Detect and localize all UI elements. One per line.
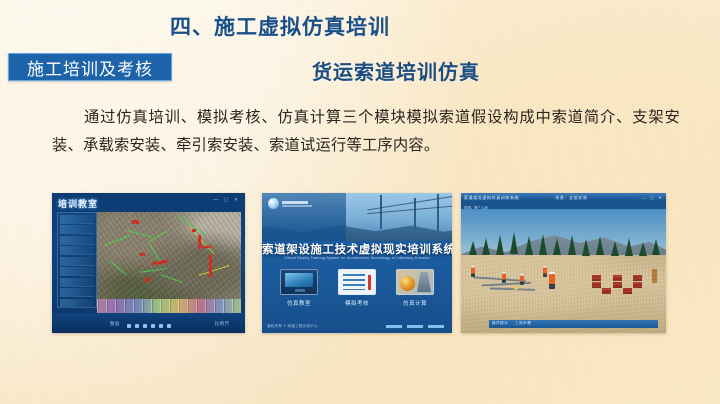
scene-name-label: 场景：支架安装 (555, 195, 587, 201)
scene-worker-avatar (520, 274, 524, 285)
scene-tree (596, 236, 604, 255)
sidebar-item[interactable] (60, 278, 94, 287)
window-controls[interactable]: — ▢ ✕ (213, 197, 240, 203)
scene-pipe (481, 282, 530, 287)
module-card-mock-exam[interactable]: 模拟考核 (338, 269, 376, 307)
scene-footer-button-steps[interactable]: 工序步骤 (515, 321, 531, 326)
scene-crate (613, 275, 622, 281)
map-legend-filmstrip[interactable] (97, 299, 241, 313)
scene-pipe (490, 287, 535, 291)
sidebar-item[interactable] (60, 246, 94, 255)
scene-worker-avatar-main (549, 272, 555, 289)
nav-item[interactable] (386, 325, 402, 328)
window-controls[interactable]: — ▢ ✕ (643, 195, 663, 200)
scene-tree (625, 238, 633, 256)
scene-title-bar: 索道架设虚拟仿真训练系统 场景：支架安装 — ▢ ✕ (461, 193, 666, 204)
scene-tree (611, 241, 619, 256)
sidebar-item[interactable] (60, 267, 94, 276)
layer-label: 图层 (110, 321, 120, 327)
scene-footer-bar[interactable]: 操作提示 工序步骤 (489, 320, 658, 328)
scene-footer-button-hint[interactable]: 操作提示 (492, 321, 508, 326)
nav-item[interactable] (407, 325, 423, 328)
classroom-app-title: 培训教室 (58, 197, 98, 210)
scene-crate (623, 288, 632, 294)
module-card-label: 仿真教室 (280, 299, 318, 307)
module-card-simulation-calc[interactable]: 仿真计算 (396, 269, 434, 307)
scene-crate (592, 282, 601, 288)
vr-system-subtitle-en: Virtual Reality Training System for Cons… (274, 256, 440, 261)
figure-training-classroom[interactable]: 培训教室 — ▢ ✕ (52, 193, 245, 333)
classroom-app-window: 培训教室 — ▢ ✕ (52, 193, 245, 333)
module-card-label: 模拟考核 (338, 299, 376, 307)
toolbar-button[interactable] (127, 324, 131, 328)
scene-crate (613, 282, 622, 288)
scene-tree (510, 232, 518, 254)
document-icon (338, 269, 376, 295)
sidebar-item[interactable] (60, 288, 94, 297)
scene-tree (582, 239, 590, 256)
scene-tree (469, 241, 477, 255)
classroom-sidebar-menu[interactable] (57, 212, 97, 308)
scene-app-title: 索道架设虚拟仿真训练系统 (464, 195, 519, 201)
figure-row: 培训教室 — ▢ ✕ (0, 193, 720, 335)
scene-tree (525, 236, 533, 255)
scene-worker-avatar (502, 272, 506, 283)
sidebar-item[interactable] (60, 299, 94, 308)
scene-tree (553, 238, 561, 255)
tower-mast (437, 194, 439, 231)
vr-splash-screen: 索道架设施工技术虚拟现实培训系统 Virtual Reality Trainin… (262, 193, 452, 333)
figure-vr-system-splash[interactable]: 索道架设施工技术虚拟现实培训系统 Virtual Reality Trainin… (262, 193, 452, 333)
sidebar-item[interactable] (60, 215, 94, 224)
toolbar-button[interactable] (159, 324, 163, 328)
scene-marker (514, 286, 518, 290)
toolbar-button[interactable] (151, 324, 155, 328)
sidebar-item[interactable] (60, 236, 94, 245)
scene-crate (602, 288, 611, 294)
toolbar-button[interactable] (167, 324, 171, 328)
satellite-map-view[interactable] (97, 212, 241, 306)
body-paragraph: 通过仿真培训、模拟考核、仿真计算三个模块模拟索道假设构成中索道简介、支架安装、承… (52, 104, 680, 160)
module-card-group: 仿真教室 模拟考核 仿真计算 (262, 269, 452, 307)
scene-crate (633, 275, 642, 281)
module-card-label: 仿真计算 (396, 299, 434, 307)
scene-tree (568, 235, 576, 255)
system-logo (268, 198, 312, 209)
logo-mark-icon (268, 198, 279, 209)
logo-wordmark (282, 201, 312, 207)
globe-icon (396, 269, 434, 295)
splash-footer-note: 版权所有 © 索道工程仿真中心 (267, 324, 318, 329)
sidebar-item[interactable] (60, 257, 94, 266)
scene-crate (592, 275, 601, 281)
scene-pipe (473, 277, 526, 283)
splash-nav-group[interactable] (386, 325, 444, 328)
classroom-toolbar[interactable]: 图层 比例尺 (52, 313, 245, 333)
toolbar-button[interactable] (143, 324, 147, 328)
slide-canvas: 四、施工虚拟仿真培训 施工培训及考核 货运索道培训仿真 通过仿真培训、模拟考核、… (0, 0, 720, 404)
scene-worker-avatar (543, 266, 547, 277)
vr-system-title: 索道架设施工技术虚拟现实培训系统 (262, 241, 452, 257)
scene-tree (652, 239, 660, 255)
vr-scene-window: 索道架设虚拟仿真训练系统 场景：支架安装 — ▢ ✕ 视角：第三人称 (461, 193, 666, 333)
section-badge: 施工培训及考核 (8, 53, 172, 81)
figure-3d-training-scene[interactable]: 索道架设虚拟仿真训练系统 场景：支架安装 — ▢ ✕ 视角：第三人称 (461, 193, 666, 333)
sidebar-item[interactable] (60, 225, 94, 234)
scene-post (652, 269, 657, 283)
page-subtitle: 货运索道培训仿真 (196, 56, 596, 85)
scene-crate (633, 282, 642, 288)
scene-worker-avatar (471, 266, 475, 277)
scene-tree (482, 238, 490, 255)
scene-tree (496, 235, 504, 255)
toolbar-button[interactable] (135, 324, 139, 328)
page-title: 四、施工虚拟仿真培训 (0, 11, 560, 41)
scale-label: 比例尺 (215, 321, 230, 327)
scene-tree (639, 242, 647, 256)
nav-item[interactable] (428, 325, 444, 328)
toolbar-button-group[interactable] (127, 324, 171, 328)
module-card-simulation-classroom[interactable]: 仿真教室 (280, 269, 318, 307)
monitor-icon (280, 269, 318, 295)
scene-tree (539, 234, 547, 255)
